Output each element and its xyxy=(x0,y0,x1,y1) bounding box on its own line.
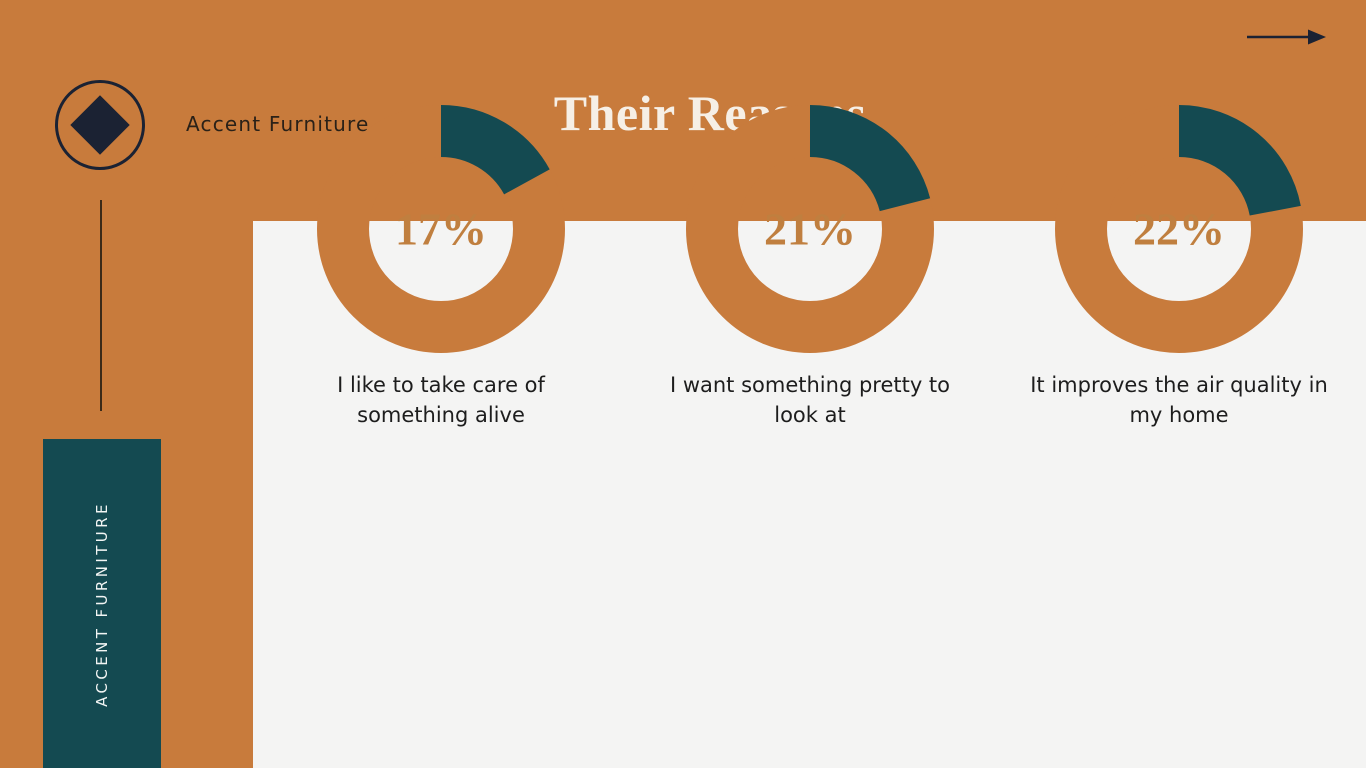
donut-caption: I want something pretty to look at xyxy=(660,371,960,431)
donut-item: 22% It improves the air quality in my ho… xyxy=(1014,105,1344,431)
side-bar-label: ACCENT FURNITURE xyxy=(93,501,111,707)
donut-value-label: 21% xyxy=(686,203,934,256)
donut-chart: 17% xyxy=(317,105,565,353)
donut-chart: 21% xyxy=(686,105,934,353)
donut-chart: 22% xyxy=(1055,105,1303,353)
donut-value-label: 22% xyxy=(1055,203,1303,256)
side-bar: ACCENT FURNITURE xyxy=(43,439,161,768)
donut-item: 21% I want something pretty to look at xyxy=(645,105,975,431)
donut-caption: I like to take care of something alive xyxy=(291,371,591,431)
donut-chart-row: 17% I like to take care of something ali… xyxy=(276,105,1344,431)
connector-line xyxy=(100,200,102,411)
donut-item: 17% I like to take care of something ali… xyxy=(276,105,606,431)
donut-caption: It improves the air quality in my home xyxy=(1029,371,1329,431)
arrow-right-icon[interactable] xyxy=(1246,26,1328,48)
slide-root: Accent Furniture Their Reasons ACCENT FU… xyxy=(0,0,1366,768)
donut-value-label: 17% xyxy=(317,203,565,256)
